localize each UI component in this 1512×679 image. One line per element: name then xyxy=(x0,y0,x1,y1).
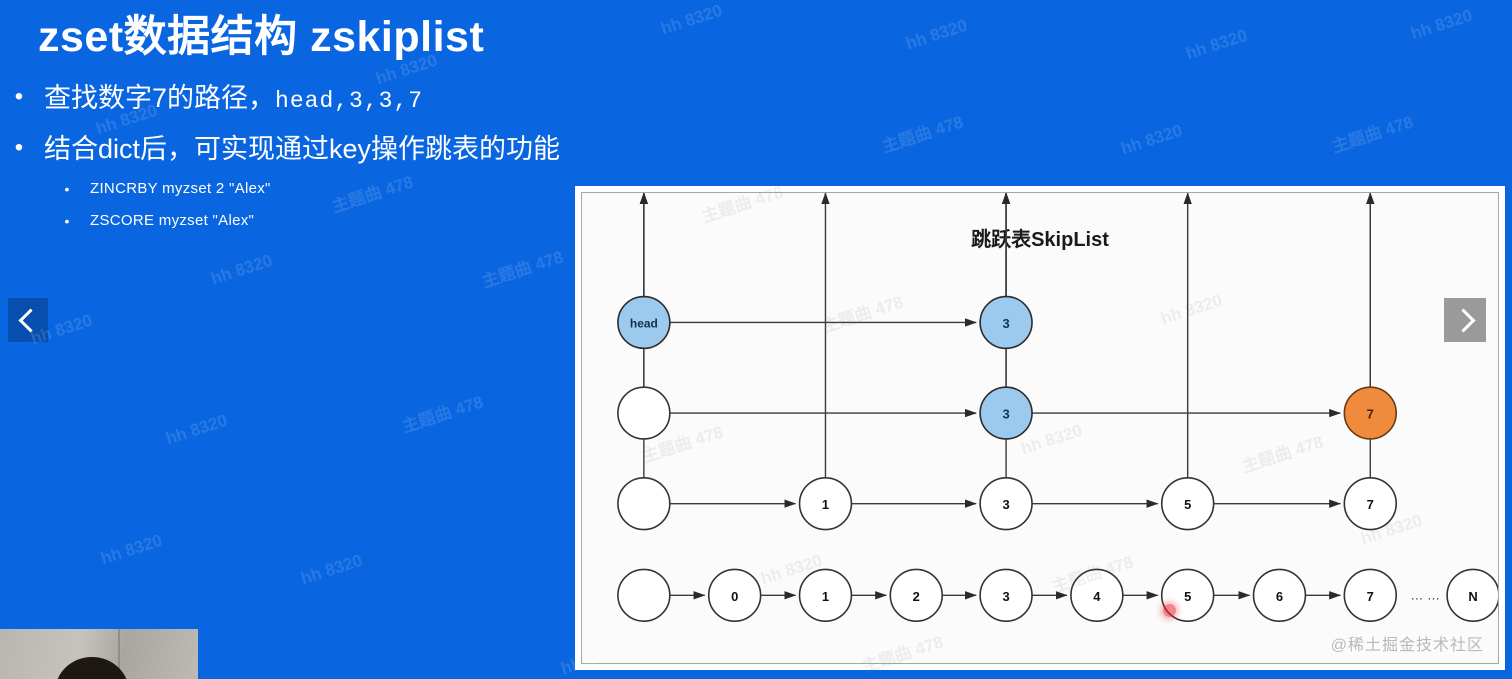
watermark-text: hh 8320 xyxy=(208,251,274,290)
skiplist-node[interactable]: 1 xyxy=(800,478,852,530)
bullet-text-2: 结合dict后，可实现通过key操作跳表的功能 xyxy=(44,131,560,167)
chevron-right-icon xyxy=(1451,308,1475,332)
node-label: 6 xyxy=(1276,589,1283,604)
node-label: 5 xyxy=(1184,497,1191,512)
watermark-text: 主题曲 478 xyxy=(878,108,966,158)
bullet-marker: • xyxy=(8,131,30,165)
watermark-text: hh 8320 xyxy=(163,411,229,450)
next-slide-button[interactable] xyxy=(1444,298,1486,342)
node-label: 4 xyxy=(1093,589,1101,604)
skiplist-node[interactable]: 3 xyxy=(980,478,1032,530)
skiplist-node[interactable]: 3 xyxy=(980,387,1032,439)
skiplist-node[interactable]: 3 xyxy=(980,297,1032,349)
skiplist-node[interactable]: 6 xyxy=(1254,569,1306,621)
node-label: 3 xyxy=(1002,407,1009,422)
node-label: 7 xyxy=(1367,497,1374,512)
sub-bullet-text-2: ZSCORE myzset "Alex" xyxy=(90,212,254,229)
skiplist-node[interactable]: 7 xyxy=(1344,569,1396,621)
watermark-text: hh 8320 xyxy=(98,531,164,570)
bullet-item-2: • 结合dict后，可实现通过key操作跳表的功能 xyxy=(8,131,648,167)
bullet-list: • 查找数字7的路径，head,3,3,7 • 结合dict后，可实现通过key… xyxy=(8,80,648,179)
sub-bullet-marker: • xyxy=(58,181,76,197)
watermark-text: hh 8320 xyxy=(903,16,969,55)
skiplist-node[interactable]: 7 xyxy=(1344,478,1396,530)
watermark-text: hh 8320 xyxy=(1118,121,1184,160)
skiplist-node[interactable] xyxy=(618,569,670,621)
ellipsis-label: … … xyxy=(1410,587,1440,602)
node-label: N xyxy=(1468,589,1477,604)
skiplist-node[interactable]: 4 xyxy=(1071,569,1123,621)
watermark-text: 主题曲 478 xyxy=(398,388,486,438)
skiplist-node[interactable]: 5 xyxy=(1162,478,1214,530)
node-label: 3 xyxy=(1002,589,1009,604)
skiplist-node[interactable]: 3 xyxy=(980,569,1032,621)
watermark-text: hh 8320 xyxy=(1408,6,1474,45)
skiplist-node[interactable]: 2 xyxy=(890,569,942,621)
bullet-marker: • xyxy=(8,80,30,114)
node-label: 7 xyxy=(1367,589,1374,604)
page-title: zset数据结构 zskiplist xyxy=(38,2,484,64)
sub-bullet-item-1: • ZINCRBY myzset 2 "Alex" xyxy=(58,180,578,197)
webcam-overlay[interactable] xyxy=(0,629,198,679)
prev-slide-button[interactable] xyxy=(8,298,48,342)
diagram-canvas: 跳跃表SkipList head337135701234567N… … @稀土掘… xyxy=(581,192,1499,664)
node-label: 0 xyxy=(731,589,738,604)
sub-bullet-marker: • xyxy=(58,213,76,229)
watermark-text: hh 8320 xyxy=(658,1,724,40)
skiplist-node[interactable] xyxy=(618,478,670,530)
mouse-cursor-highlight xyxy=(1163,604,1176,617)
node-label: 1 xyxy=(822,589,829,604)
sub-bullet-text-1: ZINCRBY myzset 2 "Alex" xyxy=(90,180,271,197)
skiplist-node[interactable]: 7 xyxy=(1344,387,1396,439)
node-label: 1 xyxy=(822,497,829,512)
bullet-item-1: • 查找数字7的路径，head,3,3,7 xyxy=(8,80,648,119)
watermark-text: 主题曲 478 xyxy=(1328,108,1416,158)
skiplist-node[interactable]: head xyxy=(618,297,670,349)
skiplist-node[interactable]: N xyxy=(1447,569,1498,621)
skiplist-node[interactable]: 0 xyxy=(709,569,761,621)
bullet-mono-1: head,3,3,7 xyxy=(275,88,423,114)
skiplist-node[interactable]: 1 xyxy=(800,569,852,621)
watermark-text: 主题曲 478 xyxy=(478,243,566,293)
node-label: 3 xyxy=(1002,316,1009,331)
node-label: 2 xyxy=(913,589,920,604)
bullet-text-1: 查找数字7的路径，head,3,3,7 xyxy=(44,80,423,119)
watermark-text: hh 8320 xyxy=(298,551,364,590)
skiplist-node[interactable] xyxy=(618,387,670,439)
skiplist-graph: head337135701234567N… … xyxy=(582,193,1498,663)
node-label: 3 xyxy=(1002,497,1009,512)
watermark-text: hh 8320 xyxy=(1183,26,1249,65)
node-label: 7 xyxy=(1367,407,1374,422)
node-label: head xyxy=(630,316,658,330)
node-label: 5 xyxy=(1184,589,1191,604)
panel-watermark: @稀土掘金技术社区 xyxy=(1331,631,1484,655)
sub-bullet-list: • ZINCRBY myzset 2 "Alex" • ZSCORE myzse… xyxy=(58,180,578,244)
sub-bullet-item-2: • ZSCORE myzset "Alex" xyxy=(58,212,578,229)
skiplist-diagram-panel: 跳跃表SkipList head337135701234567N… … @稀土掘… xyxy=(575,186,1505,670)
chevron-left-icon xyxy=(18,308,42,332)
